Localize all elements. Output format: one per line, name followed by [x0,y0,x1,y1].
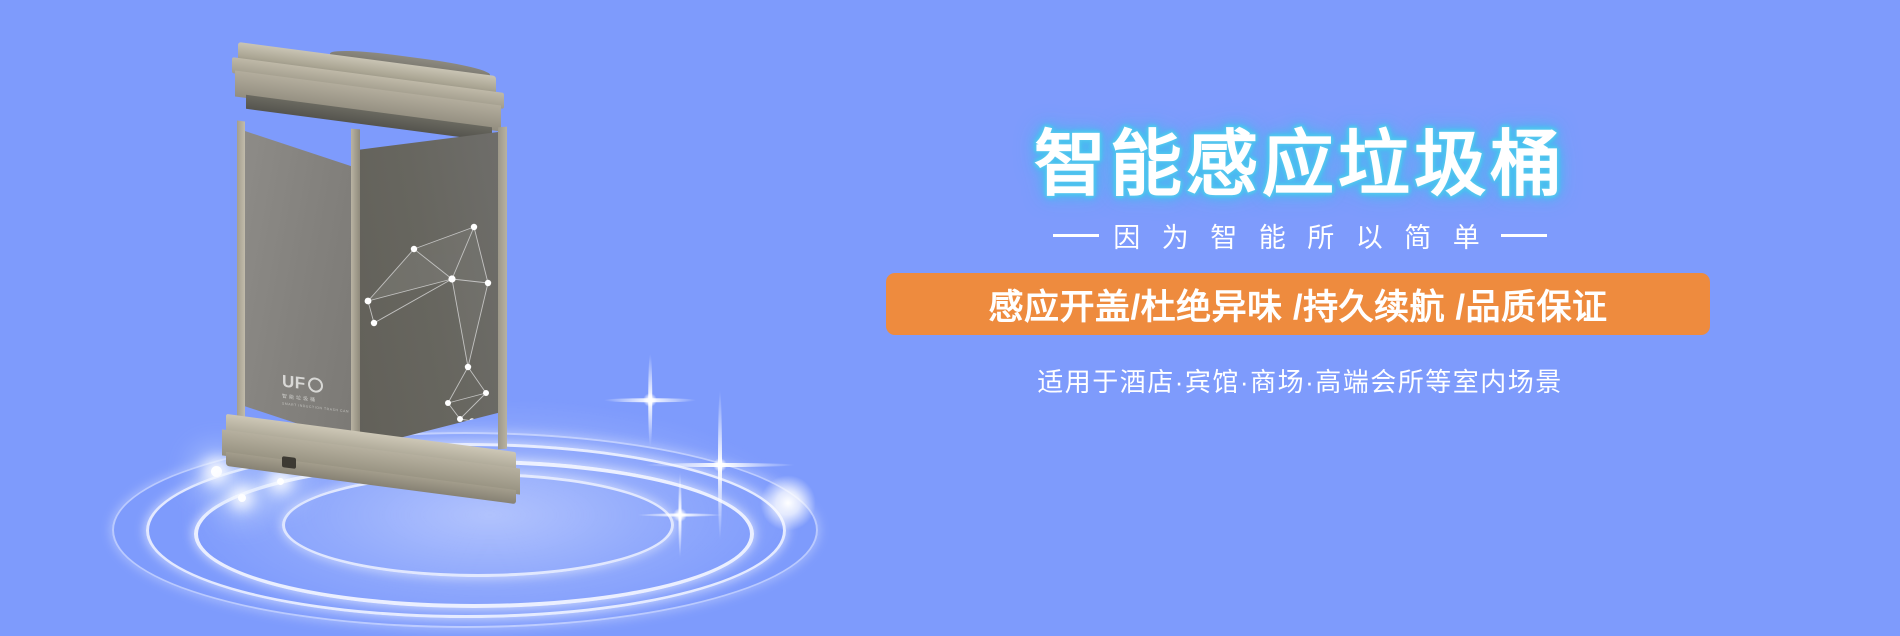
bin-edge-left [237,120,245,443]
product-visual: UF 智能垃圾桶 SMART INDUCTION TRASH CAN [60,0,880,636]
feature-highlight-text: 感应开盖/杜绝异味 /持久续航 /品质保证 [988,279,1607,330]
product-hero-banner: UF 智能垃圾桶 SMART INDUCTION TRASH CAN 智能感应垃… [0,0,1900,636]
subtitle-row: 因 为 智 能 所 以 简 单 [880,216,1720,255]
bin-base-slot [282,456,296,469]
subtitle-text: 因 为 智 能 所 以 简 单 [1113,216,1487,255]
polygon-network-icon [356,131,506,449]
bin-edge-right [498,127,507,450]
page-title: 智能感应垃圾桶 [880,129,1720,201]
logo-wordmark: UF [282,372,306,392]
trash-bin-illustration: UF 智能垃圾桶 SMART INDUCTION TRASH CAN [210,55,570,485]
copy-block: 智能感应垃圾桶 因 为 智 能 所 以 简 单 感应开盖/杜绝异味 /持久续航 … [880,0,1900,636]
logo-ring-icon [308,377,323,394]
glow-dot-2 [238,494,246,502]
usage-scene-text: 适用于酒店·宾馆·商场·高端会所等室内场景 [880,362,1720,399]
feature-highlight-banner: 感应开盖/杜绝异味 /持久续航 /品质保证 [886,273,1710,335]
rule-right-icon [1501,234,1547,237]
glow-blob [760,475,816,531]
bin-face-right [356,131,506,449]
rule-left-icon [1053,234,1099,237]
